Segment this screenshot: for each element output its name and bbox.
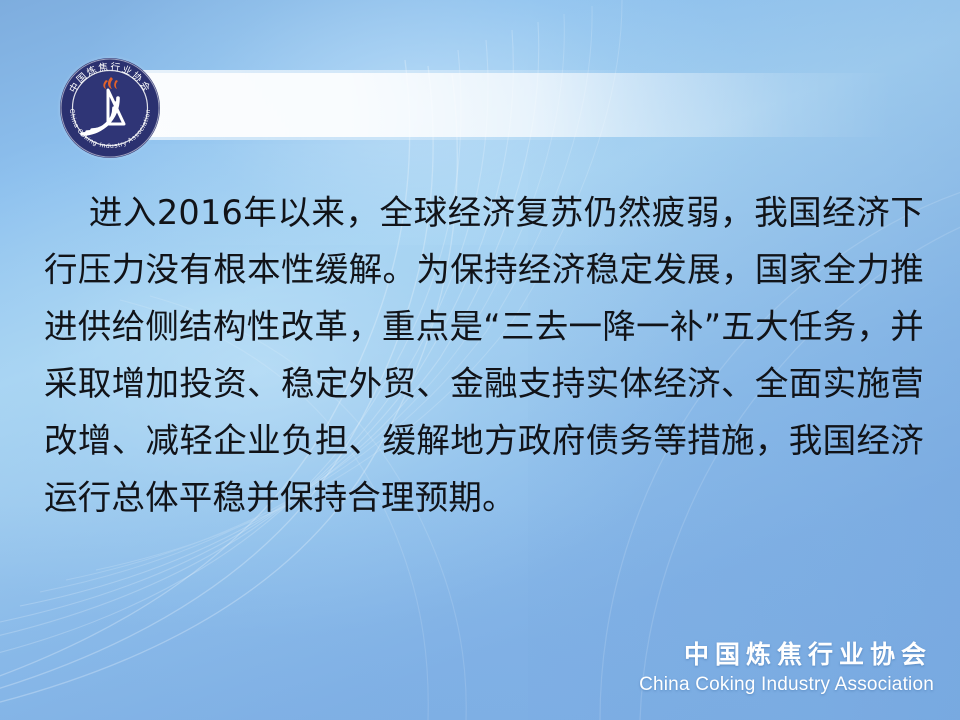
presentation-slide: 中国炼焦行业协会 China Coking Industry Associati…	[0, 0, 960, 720]
footer-association-name-en: China Coking Industry Association	[639, 673, 934, 698]
footer-branding: 中国炼焦行业协会 China Coking Industry Associati…	[639, 639, 934, 698]
header-bar	[108, 73, 960, 137]
footer-association-name-cn: 中国炼焦行业协会	[639, 639, 934, 670]
association-logo: 中国炼焦行业协会 China Coking Industry Associati…	[56, 54, 164, 162]
slide-body-text: 进入2016年以来，全球经济复苏仍然疲弱，我国经济下行压力没有根本性缓解。为保持…	[44, 184, 924, 526]
